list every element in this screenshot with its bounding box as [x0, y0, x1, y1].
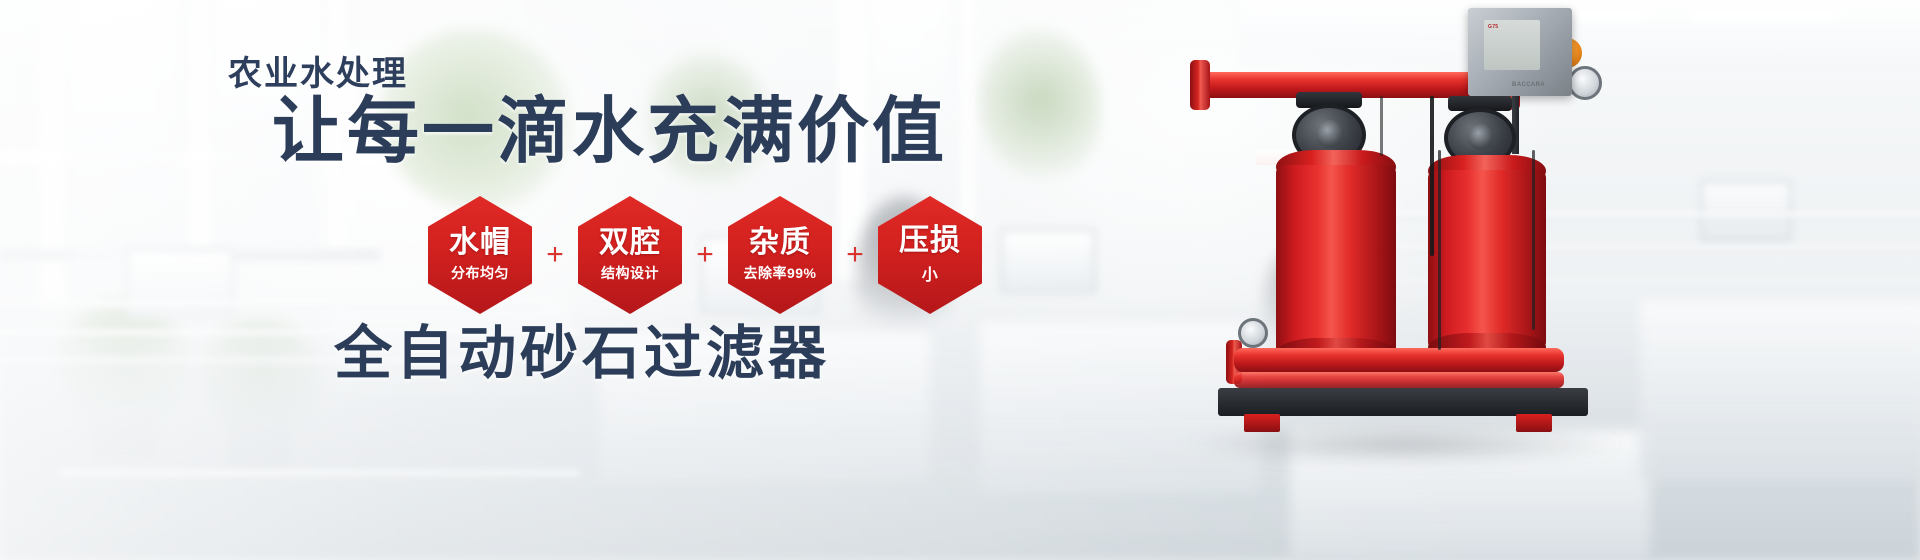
- badge-subtitle: 去除率99%: [743, 263, 816, 283]
- feature-badge-1: 水帽 分布均匀: [428, 196, 532, 314]
- plus-separator-3: +: [832, 240, 878, 270]
- filter-tank-right: [1428, 170, 1546, 350]
- control-tubing: [1438, 150, 1441, 350]
- promo-banner: G75 BACCARA 农业水处理 让每一滴水充满价值: [0, 0, 1920, 560]
- feature-badge-2: 双腔 结构设计: [578, 196, 682, 314]
- plus-separator-1: +: [532, 240, 578, 270]
- pressure-gauge: [1568, 66, 1602, 100]
- control-tubing: [1380, 96, 1383, 156]
- badge-title: 杂质: [749, 227, 811, 259]
- baccara-controller-box: G75 BACCARA: [1468, 8, 1572, 96]
- product-title-text: 全自动砂石过滤器: [334, 325, 830, 383]
- control-tubing: [1532, 150, 1535, 330]
- skid-foot: [1516, 414, 1552, 432]
- eyebrow-text: 农业水处理: [228, 46, 408, 95]
- product-image-sand-filter: G75 BACCARA: [1180, 0, 1680, 560]
- feature-badge-3: 杂质 去除率99%: [728, 196, 832, 314]
- control-tubing: [1430, 96, 1434, 256]
- valve-hub: [1316, 120, 1344, 148]
- bottom-manifold-pipe: [1234, 372, 1564, 388]
- steel-skid-base: [1218, 388, 1588, 416]
- bottom-manifold-pipe: [1234, 348, 1564, 372]
- feature-badge-4: 压损 小: [878, 196, 982, 314]
- filter-tank-left: [1276, 165, 1396, 355]
- badge-title: 水帽: [449, 227, 511, 259]
- badge-title: 双腔: [599, 227, 661, 259]
- copy-block: 农业水处理 让每一滴水充满价值 水帽 分布均匀 + 双腔 结构设计 + 杂质 去…: [0, 0, 1180, 560]
- plus-separator-2: +: [682, 240, 728, 270]
- badge-subtitle: 小: [922, 261, 939, 285]
- badge-subtitle: 分布均匀: [451, 263, 509, 283]
- controller-brand-label: BACCARA: [1512, 82, 1545, 88]
- badge-subtitle: 结构设计: [601, 263, 659, 283]
- skid-foot: [1244, 414, 1280, 432]
- headline-text: 让每一滴水充满价值: [272, 96, 947, 168]
- pressure-gauge: [1238, 318, 1268, 348]
- feature-badge-row: 水帽 分布均匀 + 双腔 结构设计 + 杂质 去除率99% + 压损 小: [428, 196, 982, 314]
- badge-title: 压损: [899, 225, 961, 257]
- controller-model-label: G75: [1488, 24, 1498, 30]
- valve-hub: [1468, 124, 1494, 150]
- pipe-flange: [1190, 60, 1210, 110]
